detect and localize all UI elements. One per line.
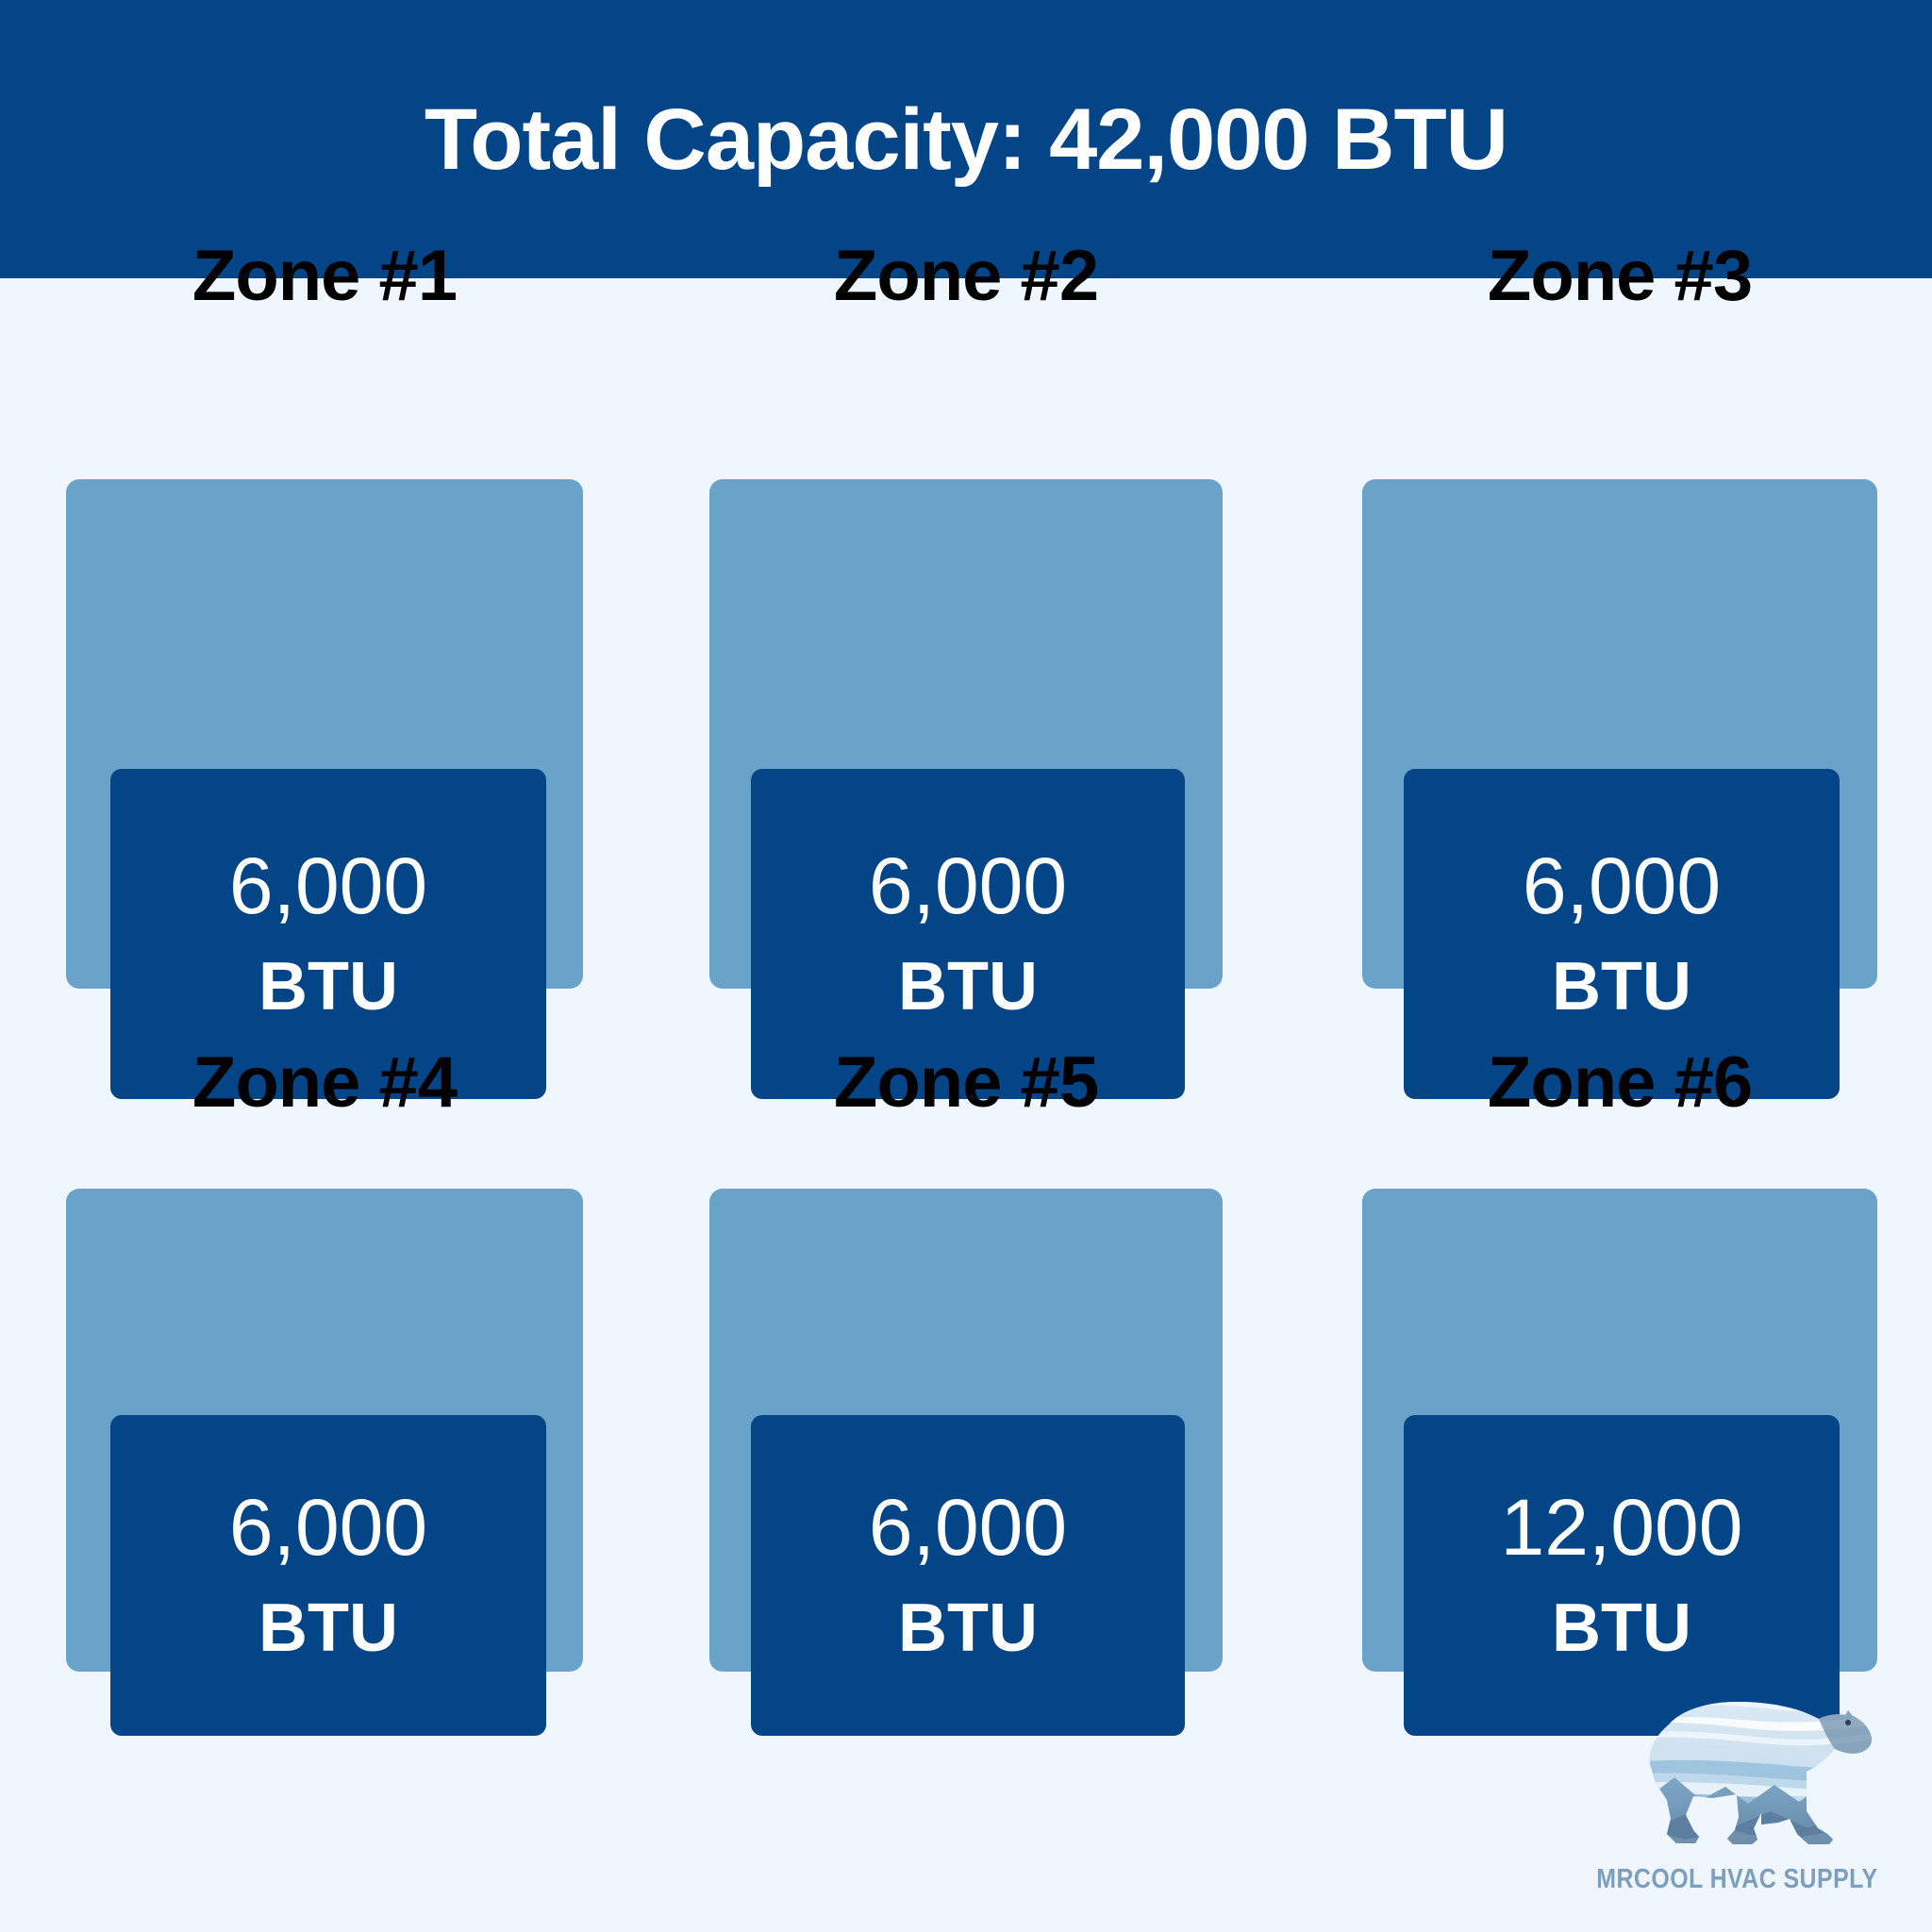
zone-value-4: 6,000 xyxy=(229,1486,427,1569)
zone-capacity-box-4: 6,000 BTU xyxy=(110,1415,546,1736)
zone-card-6[interactable]: 12,000 BTU xyxy=(1362,1189,1877,1672)
zone-title-4: Zone #4 xyxy=(66,1047,583,1119)
zone-title-3: Zone #3 xyxy=(1362,241,1877,312)
zone-grid: Zone #1 6,000 BTU Zone #2 6,000 BTU Zone… xyxy=(0,278,1932,1932)
zone-unit-4: BTU xyxy=(258,1593,398,1665)
zone-unit-1: BTU xyxy=(258,952,398,1024)
zone-unit-3: BTU xyxy=(1552,952,1691,1024)
zone-unit-2: BTU xyxy=(898,952,1038,1024)
zone-value-2: 6,000 xyxy=(869,844,1067,927)
zone-value-6: 12,000 xyxy=(1501,1486,1743,1569)
brand-logo: MRCOOL HVAC SUPPLY xyxy=(1581,1690,1892,1917)
zone-cell-3[interactable]: Zone #3 6,000 BTU xyxy=(1362,278,1877,1090)
zone-title-6: Zone #6 xyxy=(1362,1047,1877,1119)
zone-cell-4[interactable]: Zone #4 6,000 BTU xyxy=(66,1047,583,1858)
zone-card-1[interactable]: 6,000 BTU xyxy=(66,479,583,989)
zone-unit-5: BTU xyxy=(898,1593,1038,1665)
brand-wordmark: MRCOOL HVAC SUPPLY xyxy=(1596,1864,1877,1895)
zone-card-5[interactable]: 6,000 BTU xyxy=(709,1189,1223,1672)
zone-card-2[interactable]: 6,000 BTU xyxy=(709,479,1223,989)
zone-unit-6: BTU xyxy=(1552,1593,1691,1665)
zone-title-2: Zone #2 xyxy=(709,241,1223,312)
zone-cell-2[interactable]: Zone #2 6,000 BTU xyxy=(709,278,1223,1090)
zone-capacity-box-5: 6,000 BTU xyxy=(751,1415,1185,1736)
zone-value-1: 6,000 xyxy=(229,844,427,927)
zone-card-4[interactable]: 6,000 BTU xyxy=(66,1189,583,1672)
zone-card-3[interactable]: 6,000 BTU xyxy=(1362,479,1877,989)
polar-bear-icon xyxy=(1595,1690,1878,1862)
zone-value-3: 6,000 xyxy=(1523,844,1721,927)
zone-title-1: Zone #1 xyxy=(66,241,583,312)
zone-value-5: 6,000 xyxy=(869,1486,1067,1569)
zone-capacity-box-6: 12,000 BTU xyxy=(1404,1415,1840,1736)
zone-cell-5[interactable]: Zone #5 6,000 BTU xyxy=(709,1047,1223,1858)
zone-title-5: Zone #5 xyxy=(709,1047,1223,1119)
zone-cell-1[interactable]: Zone #1 6,000 BTU xyxy=(66,278,583,1090)
page-title: Total Capacity: 42,000 BTU xyxy=(425,96,1507,183)
